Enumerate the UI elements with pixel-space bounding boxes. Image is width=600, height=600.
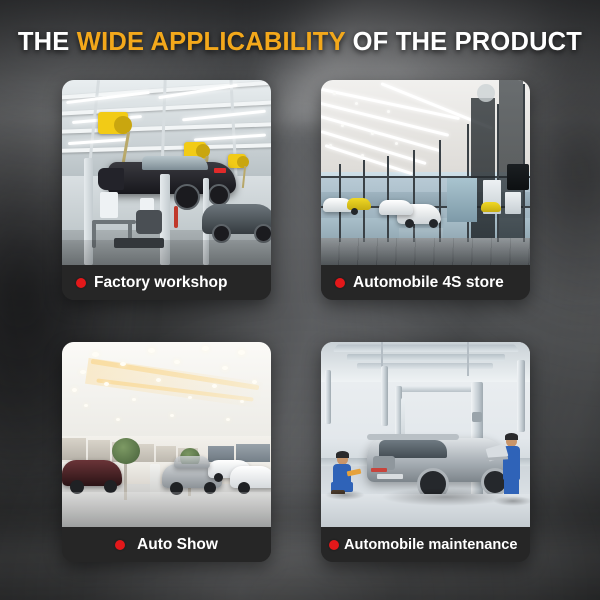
card-label-automobile-maintenance: Automobile maintenance <box>344 537 518 553</box>
card-label-bar: Automobile maintenance <box>321 527 530 562</box>
card-label-auto-show: Auto Show <box>137 536 218 554</box>
auto-show-image <box>62 342 271 527</box>
card-label-factory-workshop: Factory workshop <box>94 274 228 292</box>
page-title: THE WIDE APPLICABILITY OF THE PRODUCT <box>0 28 600 57</box>
title-highlight: WIDE APPLICABILITY <box>77 28 346 56</box>
automobile-4s-store-image <box>321 80 530 265</box>
factory-workshop-image <box>62 80 271 265</box>
card-factory-workshop[interactable]: Factory workshop <box>62 80 271 300</box>
card-label-bar: Factory workshop <box>62 265 271 300</box>
application-card-grid: Factory workshop <box>62 80 530 562</box>
automobile-maintenance-image <box>321 342 530 527</box>
title-part-one: THE <box>18 28 77 56</box>
bullet-dot-icon <box>76 278 86 288</box>
card-automobile-maintenance[interactable]: Automobile maintenance <box>321 342 530 562</box>
title-part-two: OF THE PRODUCT <box>345 28 582 56</box>
bullet-dot-icon <box>335 278 345 288</box>
bullet-dot-icon <box>115 540 125 550</box>
card-label-bar: Automobile 4S store <box>321 265 530 300</box>
card-automobile-4s-store[interactable]: Automobile 4S store <box>321 80 530 300</box>
card-auto-show[interactable]: Auto Show <box>62 342 271 562</box>
card-label-automobile-4s-store: Automobile 4S store <box>353 274 504 292</box>
card-label-bar: Auto Show <box>62 527 271 562</box>
bullet-dot-icon <box>329 540 339 550</box>
promo-banner: THE WIDE APPLICABILITY OF THE PRODUCT <box>0 0 600 600</box>
